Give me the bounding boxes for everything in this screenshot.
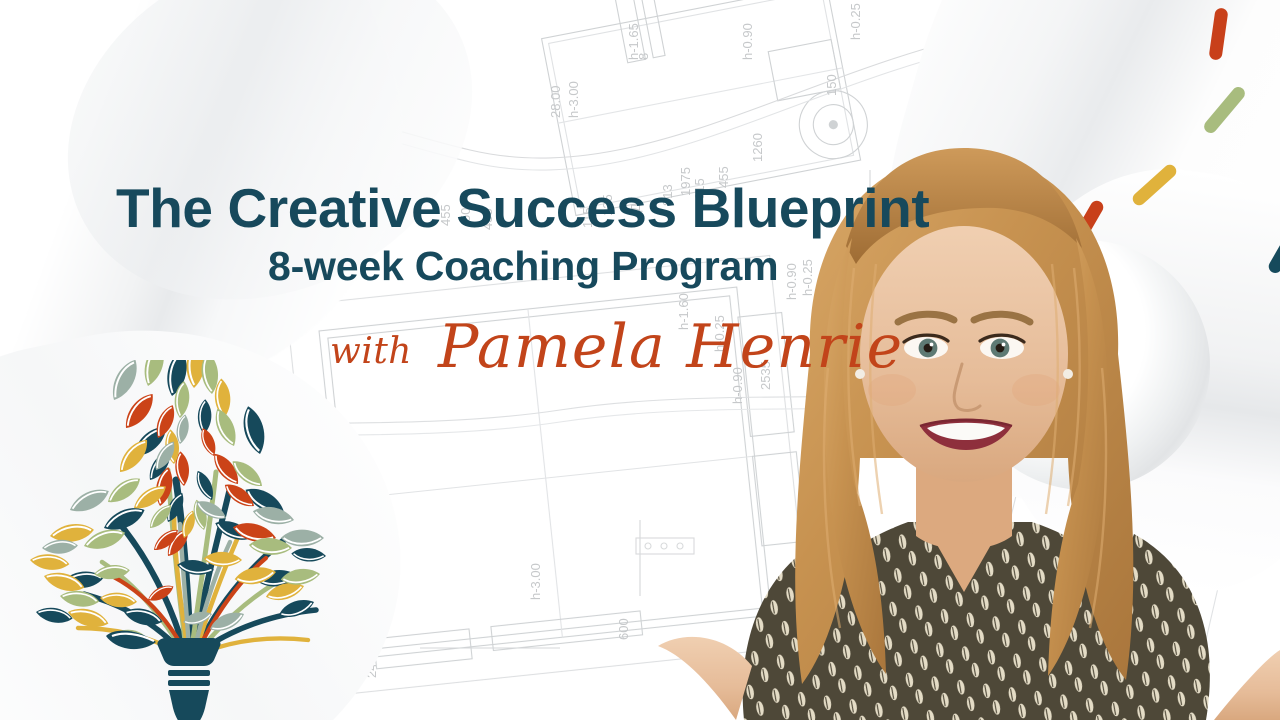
svg-text:h-0.20: h-0.20: [210, 283, 225, 320]
svg-text:h-3.00: h-3.00: [528, 563, 543, 600]
svg-text:150: 150: [824, 74, 839, 96]
svg-text:80: 80: [380, 558, 395, 572]
svg-text:3040: 3040: [314, 27, 329, 56]
page-subtitle: 8-week Coaching Program: [268, 243, 778, 290]
svg-text:h-3.00: h-3.00: [566, 81, 581, 118]
presenter-byline: with Pamela Henrie: [330, 308, 903, 378]
presenter-name: Pamela Henrie: [438, 312, 903, 382]
svg-text:1812: 1812: [176, 121, 191, 150]
byline-prefix: with: [330, 331, 412, 372]
svg-text:h-0.20: h-0.20: [234, 253, 249, 290]
svg-text:h-0.25: h-0.25: [848, 3, 863, 40]
lightbulb-tree-logo: [8, 360, 368, 720]
svg-text:h-0.90: h-0.90: [740, 23, 755, 60]
svg-text:8: 8: [636, 53, 651, 60]
page-title: The Creative Success Blueprint: [116, 176, 929, 240]
svg-text:19: 19: [32, 226, 47, 240]
svg-text:600: 600: [616, 618, 631, 640]
dash-orange-1: [1208, 7, 1228, 60]
svg-text:28.00: 28.00: [548, 85, 563, 118]
promotional-poster: h-1.65 h-0.90 h-0.25 28.00 h-3.00 150 12…: [0, 0, 1280, 720]
